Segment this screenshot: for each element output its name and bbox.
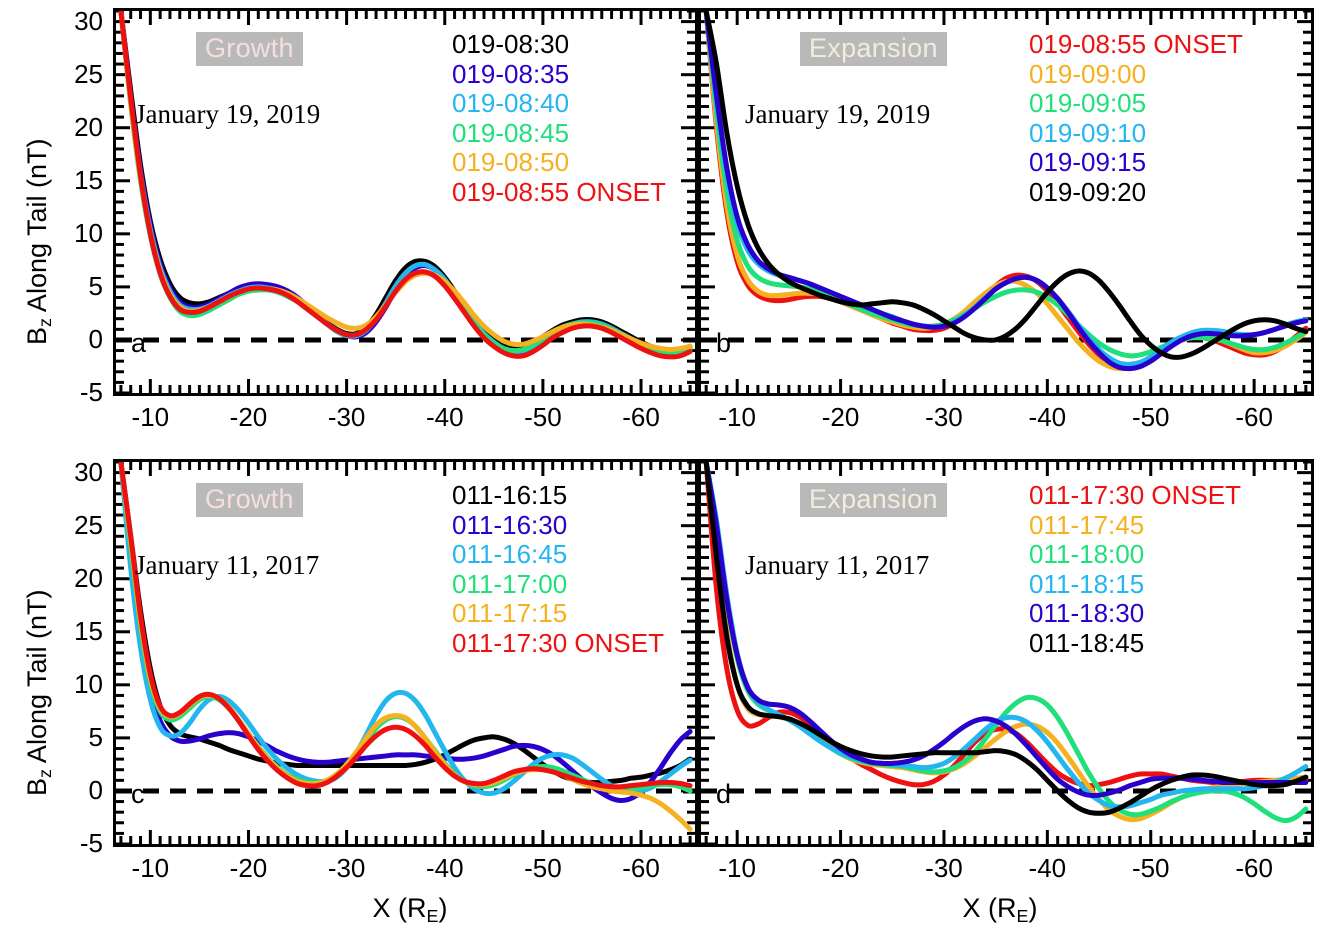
x-tick-label: -50 bbox=[508, 855, 578, 881]
legend-item: 019-09:20 bbox=[1029, 178, 1243, 208]
x-tick-label: -60 bbox=[606, 404, 676, 430]
phase-badge-d: Expansion bbox=[800, 483, 947, 517]
panel-letter-a: a bbox=[131, 328, 146, 359]
legend-item: 019-08:35 bbox=[452, 60, 666, 90]
legend-item: 019-09:15 bbox=[1029, 148, 1243, 178]
x-axis-label-right: X (RE) bbox=[910, 893, 1090, 927]
legend-item: 019-09:10 bbox=[1029, 119, 1243, 149]
legend-item: 011-17:00 bbox=[452, 570, 664, 600]
legend-item: 011-17:45 bbox=[1029, 511, 1241, 541]
legend-item: 019-08:45 bbox=[452, 119, 666, 149]
legend-item: 019-08:30 bbox=[452, 30, 666, 60]
y-tick-label: 0 bbox=[43, 777, 103, 803]
x-tick-label: -40 bbox=[1012, 855, 1082, 881]
figure-root: Bz Along Tail (nT) Bz Along Tail (nT) X … bbox=[0, 0, 1319, 939]
legend-item: 011-18:30 bbox=[1029, 599, 1241, 629]
x-tick-label: -50 bbox=[508, 404, 578, 430]
legend-item: 019-09:05 bbox=[1029, 89, 1243, 119]
x-tick-label: -30 bbox=[312, 855, 382, 881]
date-label-d: January 11, 2017 bbox=[745, 550, 929, 581]
legend-item: 019-08:55 ONSET bbox=[1029, 30, 1243, 60]
x-tick-label: -60 bbox=[1219, 855, 1289, 881]
y-tick-label: -5 bbox=[43, 830, 103, 856]
x-axis-label-left: X (RE) bbox=[320, 893, 500, 927]
phase-badge-c: Growth bbox=[196, 483, 303, 517]
y-tick-label: -5 bbox=[43, 379, 103, 405]
x-tick-label: -50 bbox=[1116, 404, 1186, 430]
y-tick-label: 30 bbox=[43, 459, 103, 485]
y-tick-label: 25 bbox=[43, 61, 103, 87]
x-tick-label: -50 bbox=[1116, 855, 1186, 881]
panel-letter-d: d bbox=[716, 779, 731, 810]
x-tick-label: -10 bbox=[702, 855, 772, 881]
x-tick-label: -60 bbox=[606, 855, 676, 881]
legend-item: 011-17:15 bbox=[452, 599, 664, 629]
panel-letter-b: b bbox=[716, 328, 731, 359]
x-tick-label: -10 bbox=[702, 404, 772, 430]
x-tick-label: -30 bbox=[909, 404, 979, 430]
legend-b: 019-08:55 ONSET019-09:00019-09:05019-09:… bbox=[1029, 30, 1243, 207]
y-tick-label: 5 bbox=[43, 273, 103, 299]
y-tick-label: 25 bbox=[43, 512, 103, 538]
legend-item: 019-08:50 bbox=[452, 148, 666, 178]
y-tick-label: 15 bbox=[43, 167, 103, 193]
phase-badge-b: Expansion bbox=[800, 32, 947, 66]
y-tick-label: 5 bbox=[43, 724, 103, 750]
y-tick-label: 15 bbox=[43, 618, 103, 644]
legend-item: 011-16:30 bbox=[452, 511, 664, 541]
x-tick-label: -30 bbox=[312, 404, 382, 430]
legend-item: 019-09:00 bbox=[1029, 60, 1243, 90]
phase-badge-a: Growth bbox=[196, 32, 303, 66]
date-label-a: January 19, 2019 bbox=[135, 99, 320, 130]
panel-letter-c: c bbox=[131, 779, 145, 810]
x-tick-label: -20 bbox=[213, 855, 283, 881]
x-tick-label: -20 bbox=[806, 855, 876, 881]
x-tick-label: -10 bbox=[115, 855, 185, 881]
y-tick-label: 20 bbox=[43, 114, 103, 140]
y-tick-label: 10 bbox=[43, 671, 103, 697]
legend-c: 011-16:15011-16:30011-16:45011-17:00011-… bbox=[452, 481, 664, 658]
x-tick-label: -10 bbox=[115, 404, 185, 430]
legend-item: 011-17:30 ONSET bbox=[1029, 481, 1241, 511]
x-tick-label: -20 bbox=[806, 404, 876, 430]
legend-item: 019-08:40 bbox=[452, 89, 666, 119]
x-tick-label: -20 bbox=[213, 404, 283, 430]
legend-d: 011-17:30 ONSET011-17:45011-18:00011-18:… bbox=[1029, 481, 1241, 658]
date-label-b: January 19, 2019 bbox=[745, 99, 930, 130]
legend-item: 011-16:15 bbox=[452, 481, 664, 511]
y-tick-label: 10 bbox=[43, 220, 103, 246]
legend-item: 011-18:00 bbox=[1029, 540, 1241, 570]
y-tick-label: 20 bbox=[43, 565, 103, 591]
x-tick-label: -40 bbox=[410, 855, 480, 881]
x-tick-label: -40 bbox=[1012, 404, 1082, 430]
x-tick-label: -60 bbox=[1219, 404, 1289, 430]
legend-item: 011-16:45 bbox=[452, 540, 664, 570]
legend-item: 011-17:30 ONSET bbox=[452, 629, 664, 659]
y-tick-label: 30 bbox=[43, 8, 103, 34]
legend-item: 011-18:45 bbox=[1029, 629, 1241, 659]
x-tick-label: -40 bbox=[410, 404, 480, 430]
y-tick-label: 0 bbox=[43, 326, 103, 352]
legend-a: 019-08:30019-08:35019-08:40019-08:45019-… bbox=[452, 30, 666, 207]
legend-item: 019-08:55 ONSET bbox=[452, 178, 666, 208]
x-tick-label: -30 bbox=[909, 855, 979, 881]
date-label-c: January 11, 2017 bbox=[135, 550, 319, 581]
legend-item: 011-18:15 bbox=[1029, 570, 1241, 600]
